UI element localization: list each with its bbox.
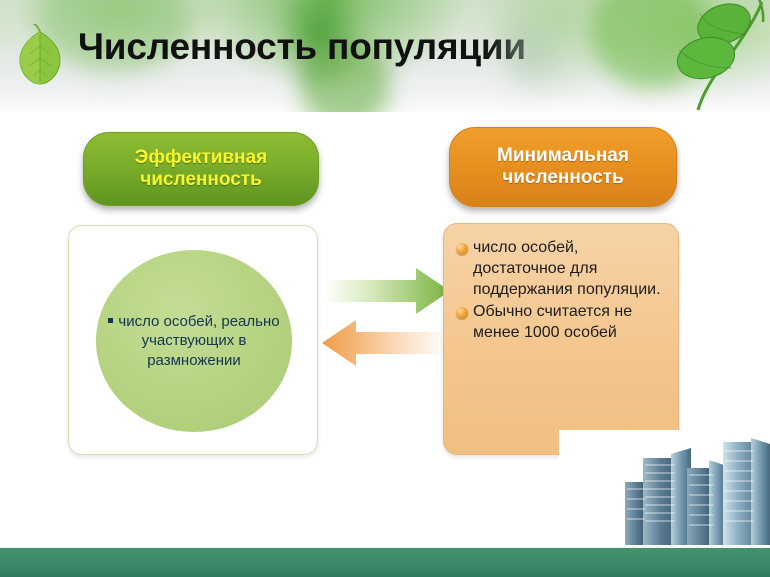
city-skyline-image [559,430,770,558]
arrow-group [318,266,454,376]
branch-leaves-icon [666,0,770,112]
arrow-left-icon [322,320,448,366]
right-bullet-text-1: число особей, достаточное для поддержани… [473,238,666,300]
left-panel-heading[interactable]: Эффективная численность [83,132,319,206]
right-bullet-text-2: Обычно считается не менее 1000 особей [473,302,666,344]
left-heading-line2: численность [135,169,267,191]
right-panel-heading[interactable]: Минимальная численность [449,127,677,207]
list-item: Обычно считается не менее 1000 особей [454,302,666,344]
sphere-bullet-icon [456,307,468,319]
right-heading-line1: Минимальная [497,145,629,166]
arrow-right-icon [324,268,450,314]
page-title: Численность популяции [78,26,526,68]
header-banner: Численность популяции [0,0,770,112]
list-item: число особей, достаточное для поддержани… [454,238,666,300]
left-heading-line1: Эффективная [135,147,267,168]
square-bullet-icon [108,318,113,323]
right-content-card: число особей, достаточное для поддержани… [443,223,679,455]
footer-bar [0,548,770,577]
left-circle-shape: число особей, реально участвующих в разм… [96,250,292,432]
slide-canvas: Численность популяции Эффективная числен… [0,0,770,577]
left-circle-text: число особей, реально участвующих в разм… [118,313,279,369]
right-heading-line2: численность [497,167,629,189]
left-content-card: число особей, реально участвующих в разм… [68,225,318,455]
leaf-icon [14,24,66,86]
left-circle-text-wrap: число особей, реально участвующих в разм… [96,250,292,432]
sphere-bullet-icon [456,243,468,255]
